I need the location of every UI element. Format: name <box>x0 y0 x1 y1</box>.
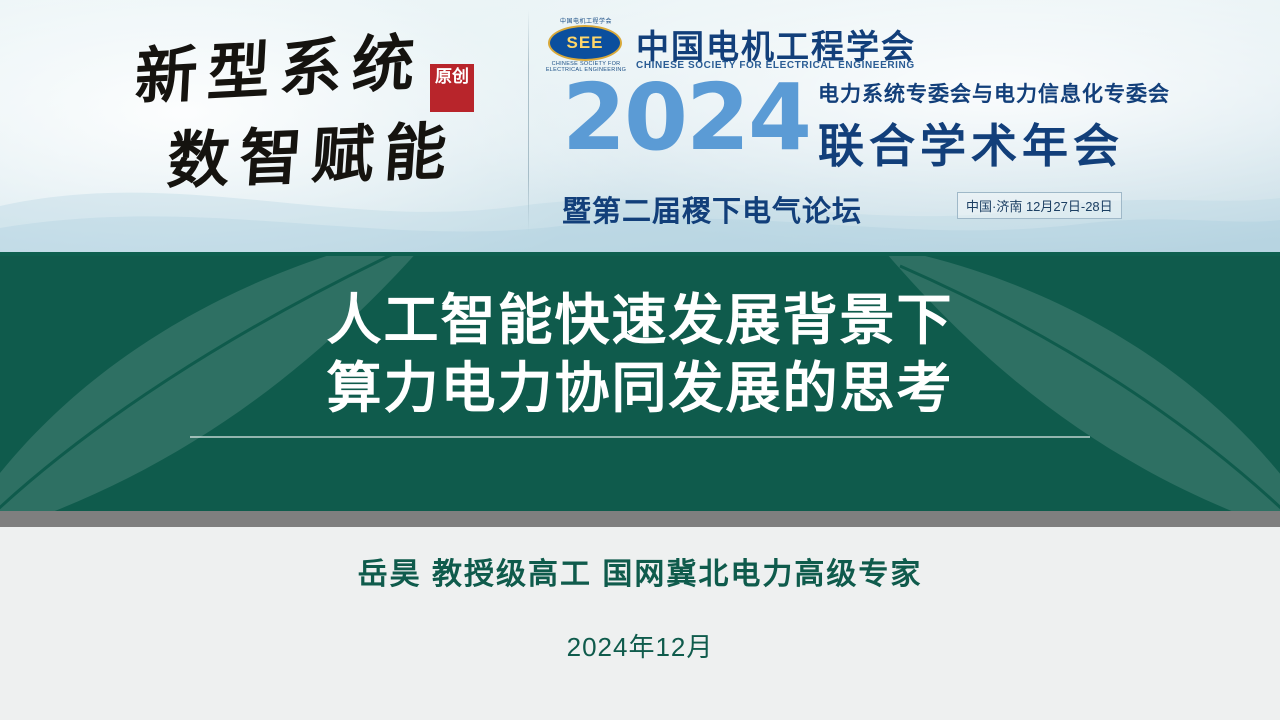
committee-line: 电力系统专委会与电力信息化专委会 <box>818 78 1170 108</box>
presenter-line: 岳昊 教授级高工 国网冀北电力高级专家 <box>0 549 1280 593</box>
forum-subtitle: 暨第二届稷下电气论坛 <box>562 188 862 230</box>
calligraphy-block: 新型系统 数智赋能 原创 <box>120 36 540 226</box>
footer-area: 岳昊 教授级高工 国网冀北电力高级专家 2024年12月 <box>0 527 1280 720</box>
page-title-line-1: 人工智能快速发展背景下 <box>0 286 1280 354</box>
see-logo-top-text: 中国电机工程学会 <box>545 16 627 25</box>
place-date-badge: 中国·济南 12月27日-28日 <box>957 192 1122 219</box>
presentation-date: 2024年12月 <box>0 627 1280 664</box>
slide-root: 新型系统 数智赋能 原创 中国电机工程学会 SEE CHINESE SOCIET… <box>0 0 1280 720</box>
see-logo: 中国电机工程学会 SEE CHINESE SOCIETY FOR ELECTRI… <box>545 16 627 68</box>
page-title: 人工智能快速发展背景下 算力电力协同发展的思考 <box>0 286 1280 422</box>
title-underline <box>190 436 1090 438</box>
calligraphy-line-1: 新型系统 <box>134 25 543 108</box>
page-title-line-2: 算力电力协同发展的思考 <box>0 354 1280 422</box>
year-2024: 2024 <box>562 72 810 164</box>
see-logo-mark: SEE <box>548 25 622 61</box>
event-name: 联合学术年会 <box>818 110 1124 176</box>
calligraphy-line-2: 数智赋能 <box>165 118 542 193</box>
seal-stamp: 原创 <box>430 64 474 112</box>
banner-vertical-divider <box>528 10 529 232</box>
grey-separator-bar <box>0 511 1280 527</box>
conference-banner: 新型系统 数智赋能 原创 中国电机工程学会 SEE CHINESE SOCIET… <box>0 0 1280 256</box>
title-band: 人工智能快速发展背景下 算力电力协同发展的思考 <box>0 256 1280 511</box>
